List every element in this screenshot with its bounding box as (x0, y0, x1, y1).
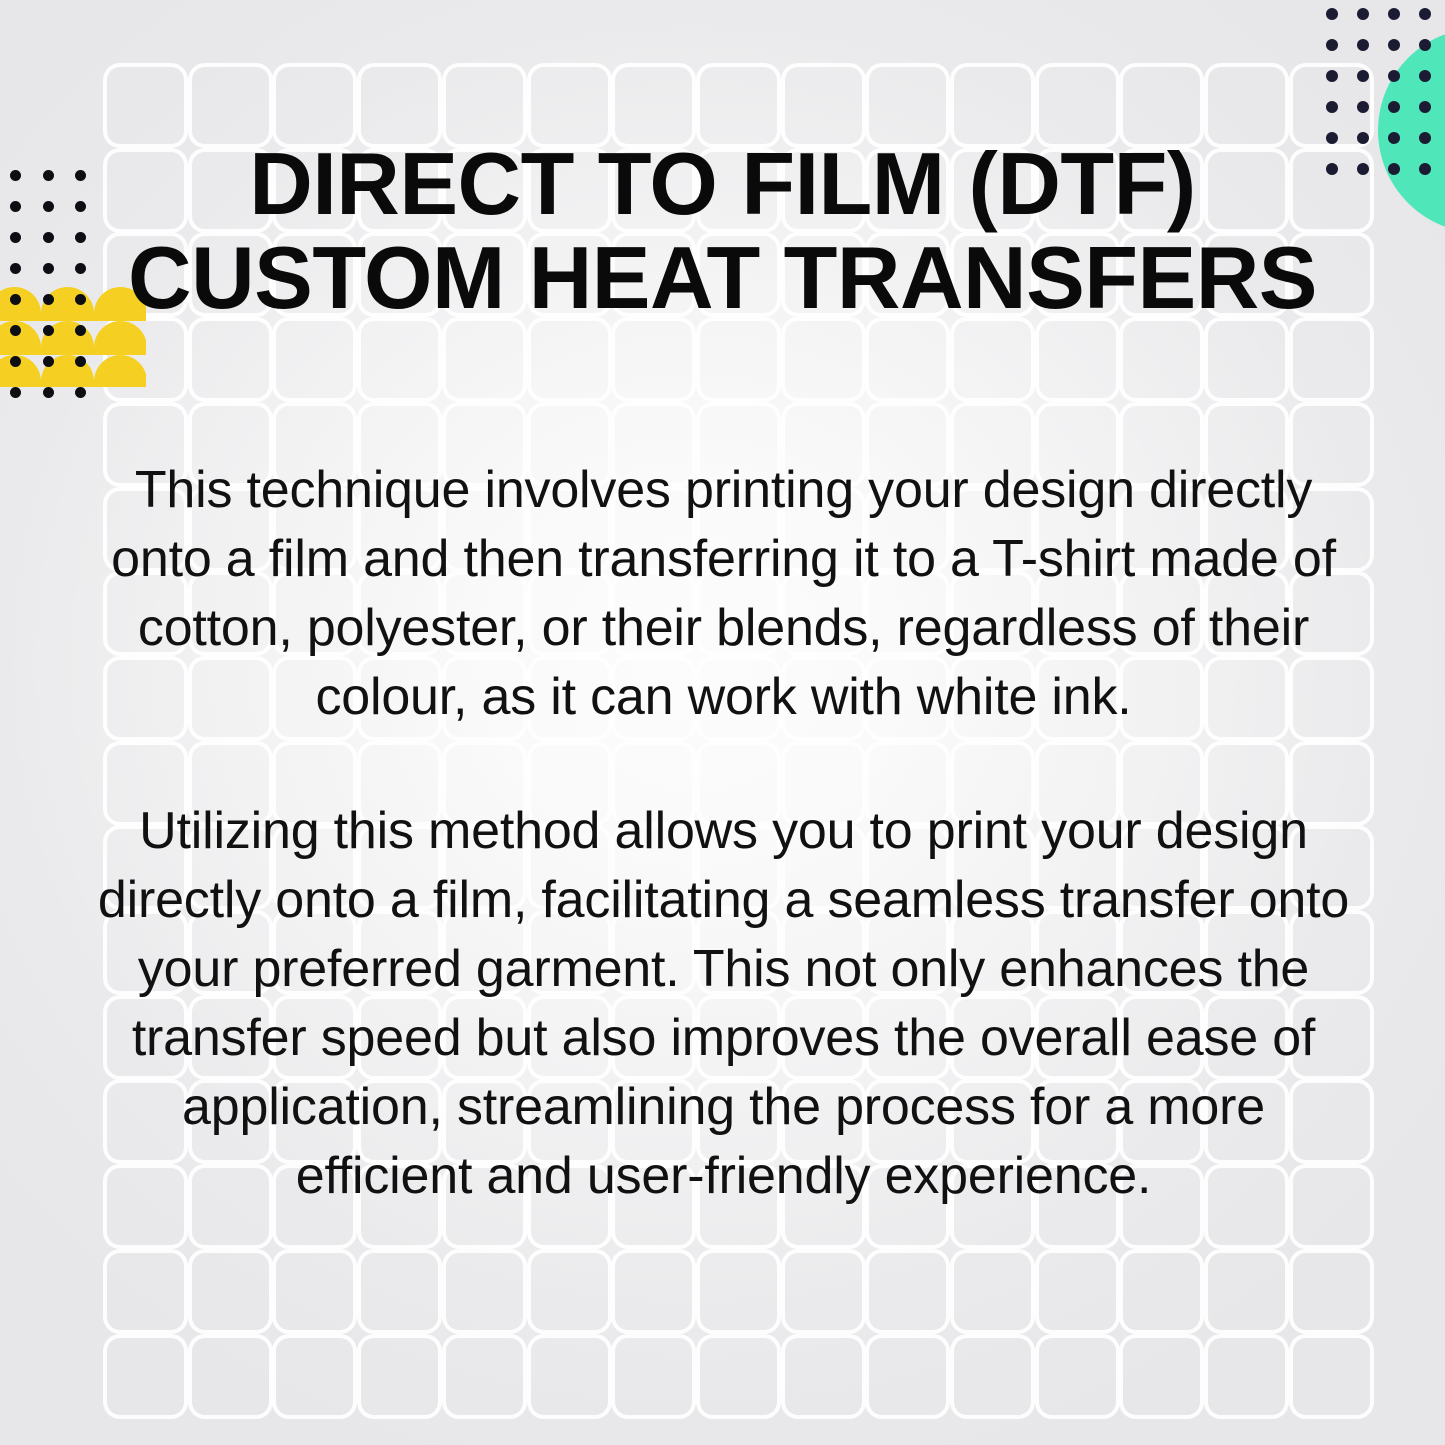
page-title: DIRECT TO FILM (DTF) CUSTOM HEAT TRANSFE… (0, 137, 1445, 325)
body-paragraph-2: Utilizing this method allows you to prin… (96, 797, 1351, 1211)
poster-canvas: DIRECT TO FILM (DTF) CUSTOM HEAT TRANSFE… (0, 0, 1445, 1445)
title-line-2: CUSTOM HEAT TRANSFERS (0, 231, 1445, 325)
body-paragraph-1: This technique involves printing your de… (96, 456, 1351, 732)
title-line-1: DIRECT TO FILM (DTF) (0, 137, 1445, 231)
content-layer: DIRECT TO FILM (DTF) CUSTOM HEAT TRANSFE… (0, 0, 1445, 1445)
